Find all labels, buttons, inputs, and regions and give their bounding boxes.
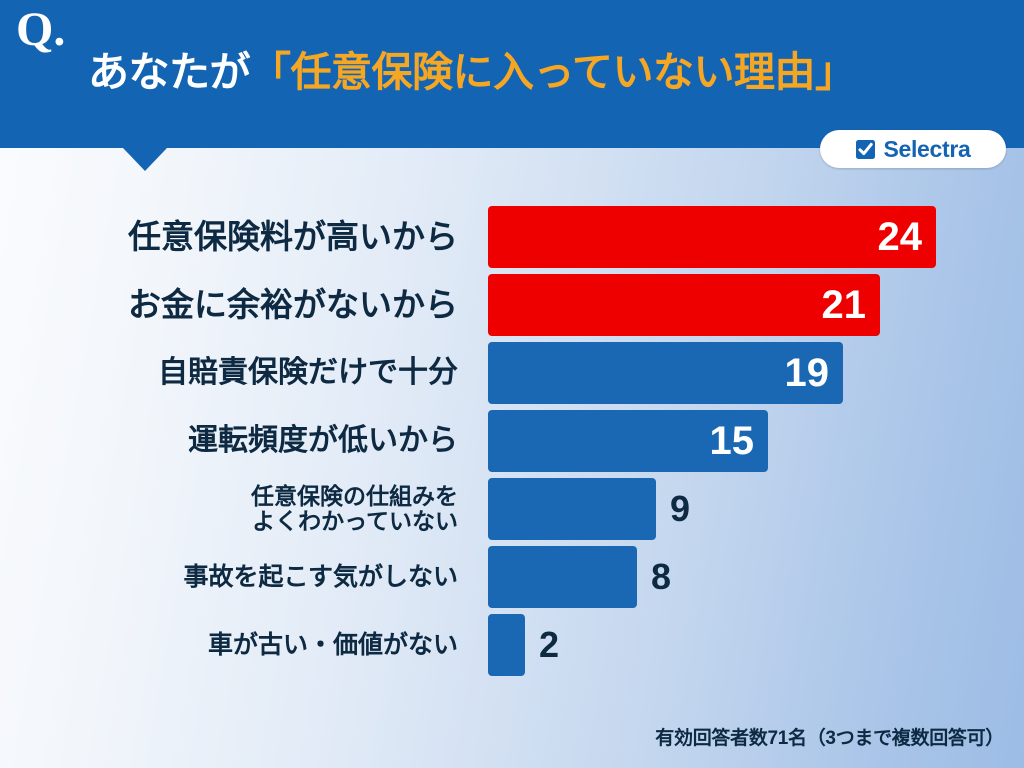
page-title: あなたが「任意保険に入っていない理由」 xyxy=(88,48,855,97)
bar-category-label: 運転頻度が低いから xyxy=(28,410,458,472)
chart-row: 運転頻度が低いから15 xyxy=(0,410,1024,472)
bar-value-label: 15 xyxy=(710,410,755,472)
bar-category-label: 事故を起こす気がしない xyxy=(28,546,458,608)
bar xyxy=(488,614,525,676)
bar-category-label: 自賠責保険だけで十分 xyxy=(28,342,458,404)
selectra-logo[interactable]: Selectra xyxy=(820,130,1006,168)
bar-category-label: お金に余裕がないから xyxy=(28,274,458,336)
bar: 15 xyxy=(488,410,768,472)
header-banner: Q. あなたが「任意保険に入っていない理由」 xyxy=(0,0,1024,148)
bar-value-label: 24 xyxy=(878,206,923,268)
bar-value-label: 8 xyxy=(651,546,671,608)
bar: 24 xyxy=(488,206,936,268)
page-title-white-part: あなたが xyxy=(88,49,250,95)
bar-category-label: 任意保険の仕組みを よくわかっていない xyxy=(28,478,458,540)
chart-row: 自賠責保険だけで十分19 xyxy=(0,342,1024,404)
sample-size-note: 有効回答者数71名（3つまで複数回答可） xyxy=(655,723,1004,750)
chart-row: 任意保険の仕組みを よくわかっていない9 xyxy=(0,478,1024,540)
header-pointer-triangle xyxy=(123,148,167,171)
selectra-logo-text: Selectra xyxy=(883,138,970,161)
bar: 19 xyxy=(488,342,843,404)
slide-canvas: Q. あなたが「任意保険に入っていない理由」 Selectra 任意保険料が高い… xyxy=(0,0,1024,768)
bar-value-label: 21 xyxy=(822,274,867,336)
question-marker: Q. xyxy=(16,6,65,54)
bar-value-label: 19 xyxy=(785,342,830,404)
checkbox-checked-icon xyxy=(855,139,876,160)
chart-row: お金に余裕がないから21 xyxy=(0,274,1024,336)
bar-chart: 任意保険料が高いから24お金に余裕がないから21自賠責保険だけで十分19運転頻度… xyxy=(0,206,1024,682)
chart-row: 車が古い・価値がない2 xyxy=(0,614,1024,676)
bar xyxy=(488,546,637,608)
bar-category-label: 任意保険料が高いから xyxy=(28,206,458,268)
bar xyxy=(488,478,656,540)
bar-category-label: 車が古い・価値がない xyxy=(28,614,458,676)
bar-value-label: 2 xyxy=(539,614,559,676)
chart-row: 事故を起こす気がしない8 xyxy=(0,546,1024,608)
bar-value-label: 9 xyxy=(670,478,690,540)
bar: 21 xyxy=(488,274,880,336)
chart-row: 任意保険料が高いから24 xyxy=(0,206,1024,268)
page-title-orange-part: 「任意保険に入っていない理由」 xyxy=(250,49,855,95)
